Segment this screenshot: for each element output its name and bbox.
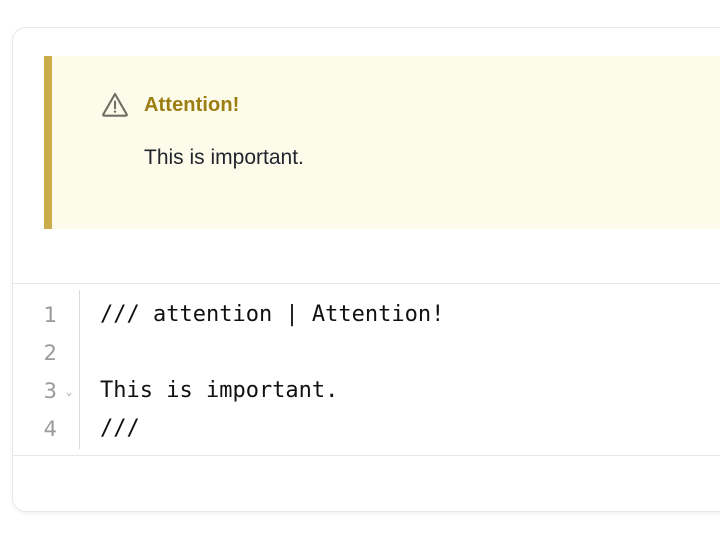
editor-line-row[interactable]: 1 /// attention | Attention!	[13, 296, 720, 334]
line-number: 2	[44, 343, 57, 364]
rendered-preview-pane: Attention! This is important.	[13, 28, 720, 284]
source-editor-pane[interactable]: 1 /// attention | Attention! 2 3 ⌄ This …	[13, 284, 720, 456]
editor-line-row[interactable]: 4 ///	[13, 410, 720, 448]
line-number: 4	[44, 419, 57, 440]
code-line-text[interactable]: ///	[79, 418, 720, 440]
code-line-text[interactable]: This is important.	[79, 380, 720, 402]
admonition-accent-bar	[44, 56, 52, 229]
warning-triangle-icon	[100, 90, 130, 120]
editor-rows: 1 /// attention | Attention! 2 3 ⌄ This …	[13, 284, 720, 448]
admonition-preview-card: Attention! This is important. 1 /// atte…	[12, 27, 720, 512]
admonition-body: Attention! This is important.	[52, 56, 720, 229]
editor-line-row[interactable]: 3 ⌄ This is important.	[13, 372, 720, 410]
admonition-title-row: Attention!	[100, 90, 720, 120]
line-number: 3	[44, 381, 57, 402]
admonition-body-text: This is important.	[144, 144, 720, 172]
attention-admonition: Attention! This is important.	[44, 56, 720, 229]
code-line-text[interactable]: /// attention | Attention!	[79, 304, 720, 326]
editor-line-row[interactable]: 2	[13, 334, 720, 372]
line-gutter: 2	[13, 343, 79, 364]
line-gutter: 1	[13, 305, 79, 326]
gutter-divider	[79, 290, 80, 449]
admonition-title: Attention!	[144, 95, 239, 115]
line-gutter: 4	[13, 419, 79, 440]
line-number: 1	[44, 305, 57, 326]
line-gutter: 3 ⌄	[13, 381, 79, 402]
card-footer	[13, 456, 720, 511]
fold-toggle-icon[interactable]: ⌄	[57, 386, 79, 397]
